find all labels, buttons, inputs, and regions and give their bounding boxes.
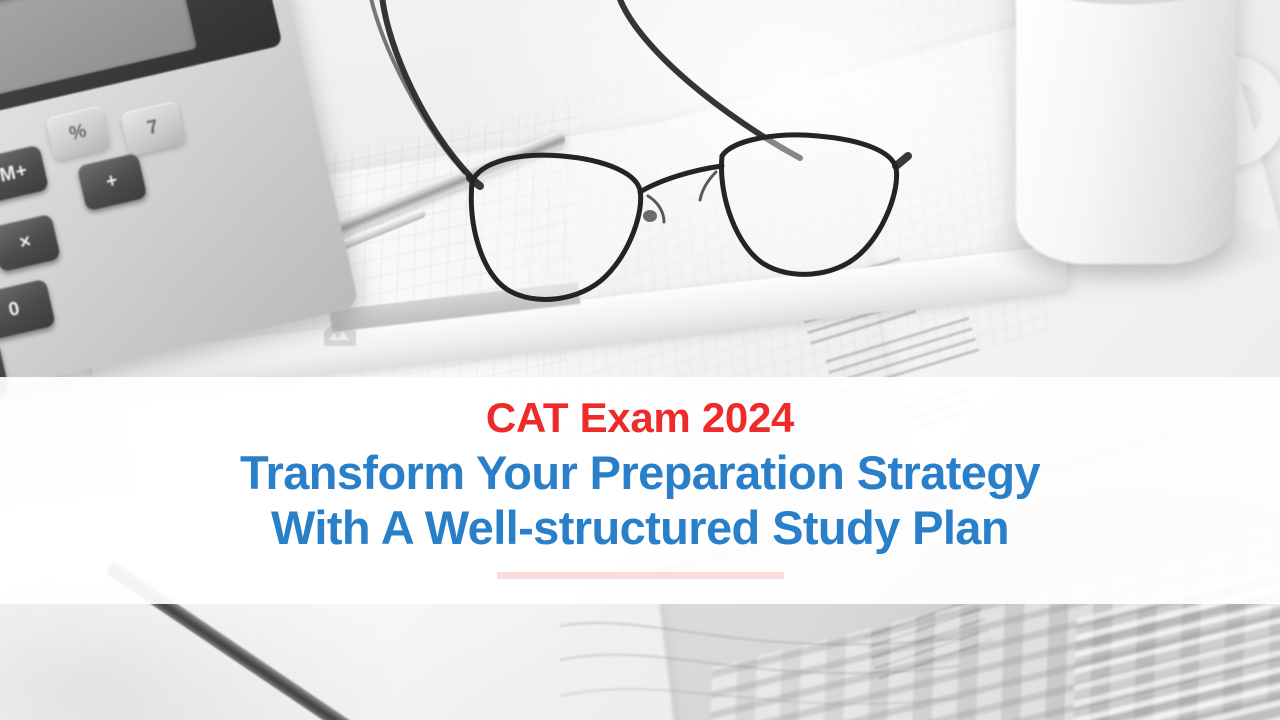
chart-curves [560,600,960,720]
page-title: CAT Exam 2024 [486,394,794,441]
house-watermark-icon [322,318,358,348]
promotional-banner: MR M+ % 7 + 8 × 9 0 − [0,0,1280,720]
divider-rule [497,572,784,579]
background-photo: MR M+ % 7 + 8 × 9 0 − [0,0,1280,720]
text-banner-band: CAT Exam 2024 Transform Your Preparation… [0,377,1280,604]
subtitle-line-1: Transform Your Preparation Strategy [240,445,1040,500]
subtitle-line-2: With A Well-structured Study Plan [271,500,1009,555]
coffee-mug [1016,0,1266,284]
mug-body [1016,0,1236,264]
eyeglasses [330,0,1010,320]
